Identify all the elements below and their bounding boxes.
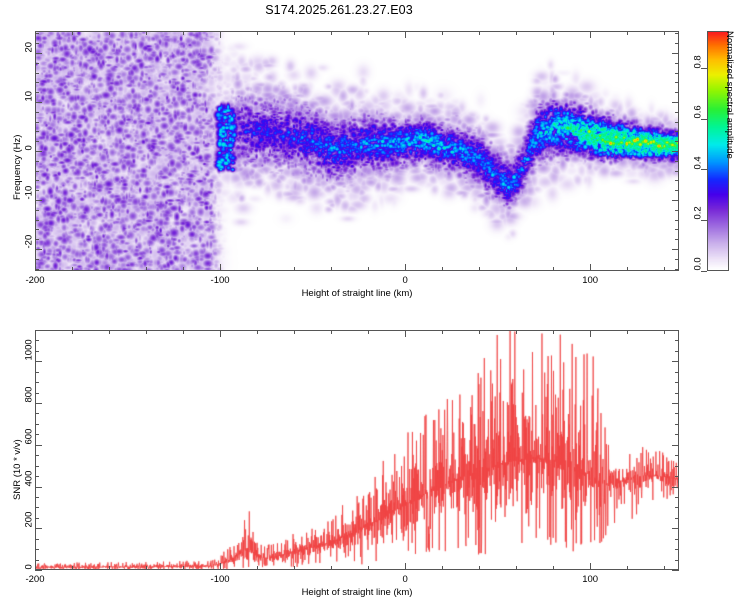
snr-panel [35, 330, 679, 570]
y-minor-tick-right [675, 259, 679, 260]
snr-x-axis-label: Height of straight line (km) [35, 587, 679, 598]
y-major-tick [35, 445, 42, 446]
y-minor-tick [35, 372, 39, 373]
y-major-tick-right [672, 403, 679, 404]
y-minor-tick [35, 33, 39, 34]
snr-line-plot [36, 331, 679, 570]
y-minor-tick-right [675, 340, 679, 341]
y-minor-tick-right [675, 73, 679, 74]
y-minor-tick-right [675, 372, 679, 373]
x-minor-tick [553, 566, 554, 570]
y-minor-tick [35, 131, 39, 132]
x-tick-label: 0 [380, 574, 430, 585]
x-minor-tick [331, 267, 332, 271]
y-minor-tick [35, 269, 39, 270]
y-major-tick [35, 570, 42, 571]
y-minor-tick-right [675, 507, 679, 508]
x-minor-tick-top [109, 330, 110, 334]
x-major-tick-top [590, 31, 591, 38]
y-minor-tick [35, 549, 39, 550]
x-minor-tick [479, 566, 480, 570]
y-minor-tick [35, 190, 39, 191]
y-minor-tick [35, 340, 39, 341]
y-minor-tick [35, 382, 39, 383]
y-minor-tick [35, 239, 39, 240]
snr-y-axis-label: SNR (10 * v/v) [12, 439, 23, 500]
x-minor-tick [627, 566, 628, 570]
x-tick-label: -100 [195, 275, 245, 286]
x-major-tick-top [220, 330, 221, 337]
y-minor-tick-right [675, 497, 679, 498]
x-major-tick-top [220, 31, 221, 38]
x-minor-tick [294, 566, 295, 570]
x-minor-tick [183, 267, 184, 271]
y-minor-tick [35, 413, 39, 414]
x-tick-label: -100 [195, 574, 245, 585]
x-minor-tick [109, 566, 110, 570]
y-minor-tick [35, 92, 39, 93]
y-major-tick-right [672, 528, 679, 529]
x-tick-label: -200 [10, 574, 60, 585]
y-minor-tick [35, 259, 39, 260]
x-minor-tick-top [257, 31, 258, 35]
y-major-tick-right [672, 102, 679, 103]
x-minor-tick-top [72, 330, 73, 334]
y-minor-tick [35, 43, 39, 44]
y-minor-tick-right [675, 382, 679, 383]
y-minor-tick [35, 455, 39, 456]
x-minor-tick-top [368, 330, 369, 334]
y-minor-tick-right [675, 180, 679, 181]
x-minor-tick [516, 566, 517, 570]
x-minor-tick-top [516, 31, 517, 35]
x-minor-tick [331, 566, 332, 570]
y-major-tick [35, 249, 42, 250]
y-major-tick [35, 403, 42, 404]
y-minor-tick [35, 82, 39, 83]
x-major-tick [35, 563, 36, 570]
x-minor-tick [146, 267, 147, 271]
y-minor-tick [35, 220, 39, 221]
y-minor-tick [35, 171, 39, 172]
y-minor-tick-right [675, 239, 679, 240]
y-minor-tick [35, 141, 39, 142]
x-major-tick-top [35, 330, 36, 337]
y-minor-tick [35, 330, 39, 331]
y-minor-tick-right [675, 269, 679, 270]
x-minor-tick-top [627, 31, 628, 35]
y-minor-tick [35, 393, 39, 394]
y-minor-tick [35, 424, 39, 425]
x-major-tick [220, 563, 221, 570]
y-minor-tick-right [675, 63, 679, 64]
x-minor-tick-top [368, 31, 369, 35]
y-minor-tick [35, 539, 39, 540]
x-minor-tick-top [664, 330, 665, 334]
y-minor-tick-right [675, 141, 679, 142]
y-major-tick [35, 200, 42, 201]
x-minor-tick [368, 566, 369, 570]
y-minor-tick-right [675, 161, 679, 162]
y-major-tick-right [672, 445, 679, 446]
figure-root: S174.2025.261.23.27.E03 -200-1000100 -20… [0, 0, 750, 600]
y-minor-tick [35, 351, 39, 352]
y-minor-tick-right [675, 210, 679, 211]
y-minor-tick [35, 497, 39, 498]
x-minor-tick-top [553, 31, 554, 35]
y-minor-tick-right [675, 43, 679, 44]
x-major-tick [405, 264, 406, 271]
y-minor-tick-right [675, 33, 679, 34]
y-minor-tick [35, 560, 39, 561]
y-minor-tick-right [675, 190, 679, 191]
x-minor-tick [479, 267, 480, 271]
colorbar-title: Normalized spectral amplitude [724, 31, 735, 159]
y-minor-tick [35, 210, 39, 211]
y-minor-tick [35, 507, 39, 508]
x-major-tick-top [590, 330, 591, 337]
x-minor-tick-top [183, 31, 184, 35]
y-minor-tick [35, 63, 39, 64]
x-minor-tick-top [146, 330, 147, 334]
colorbar-tick [701, 119, 707, 120]
y-major-tick [35, 102, 42, 103]
y-minor-tick-right [675, 466, 679, 467]
y-major-tick [35, 53, 42, 54]
x-tick-label: 100 [565, 275, 615, 286]
x-major-tick-top [405, 330, 406, 337]
x-minor-tick [627, 267, 628, 271]
x-minor-tick-top [109, 31, 110, 35]
y-minor-tick-right [675, 131, 679, 132]
y-minor-tick-right [675, 220, 679, 221]
x-minor-tick-top [479, 330, 480, 334]
x-minor-tick [442, 566, 443, 570]
x-minor-tick-top [479, 31, 480, 35]
x-minor-tick-top [516, 330, 517, 334]
x-minor-tick-top [146, 31, 147, 35]
x-minor-tick [72, 267, 73, 271]
y-minor-tick-right [675, 476, 679, 477]
y-minor-tick [35, 476, 39, 477]
y-major-tick-right [672, 151, 679, 152]
y-minor-tick-right [675, 549, 679, 550]
x-tick-label: 100 [565, 574, 615, 585]
x-minor-tick [516, 267, 517, 271]
x-minor-tick [109, 267, 110, 271]
y-minor-tick-right [675, 330, 679, 331]
y-minor-tick [35, 466, 39, 467]
y-major-tick [35, 361, 42, 362]
x-minor-tick-top [294, 330, 295, 334]
page-title: S174.2025.261.23.27.E03 [0, 3, 678, 17]
y-minor-tick-right [675, 92, 679, 93]
y-minor-tick-right [675, 171, 679, 172]
x-minor-tick-top [183, 330, 184, 334]
x-minor-tick [442, 267, 443, 271]
colorbar-tick [701, 220, 707, 221]
x-minor-tick-top [664, 31, 665, 35]
x-tick-label: -200 [10, 275, 60, 286]
y-minor-tick-right [675, 229, 679, 230]
y-major-tick-right [672, 487, 679, 488]
y-minor-tick-right [675, 424, 679, 425]
y-minor-tick [35, 229, 39, 230]
y-minor-tick-right [675, 413, 679, 414]
x-major-tick [590, 264, 591, 271]
y-major-tick [35, 528, 42, 529]
x-minor-tick-top [331, 31, 332, 35]
x-tick-label: 0 [380, 275, 430, 286]
colorbar-tick [701, 68, 707, 69]
x-minor-tick-top [442, 31, 443, 35]
y-minor-tick-right [675, 351, 679, 352]
y-minor-tick [35, 518, 39, 519]
y-major-tick-right [672, 570, 679, 571]
spectrogram-panel [35, 31, 679, 271]
y-minor-tick-right [675, 112, 679, 113]
y-minor-tick [35, 73, 39, 74]
y-minor-tick [35, 112, 39, 113]
y-minor-tick-right [675, 82, 679, 83]
y-minor-tick-right [675, 518, 679, 519]
x-minor-tick [553, 267, 554, 271]
x-minor-tick-top [442, 330, 443, 334]
x-major-tick [590, 563, 591, 570]
x-minor-tick [72, 566, 73, 570]
colorbar-tick [701, 169, 707, 170]
y-major-tick [35, 487, 42, 488]
y-minor-tick-right [675, 560, 679, 561]
x-minor-tick-top [294, 31, 295, 35]
y-minor-tick-right [675, 122, 679, 123]
x-minor-tick [294, 267, 295, 271]
y-minor-tick [35, 122, 39, 123]
x-minor-tick-top [553, 330, 554, 334]
y-minor-tick-right [675, 455, 679, 456]
x-minor-tick-top [627, 330, 628, 334]
colorbar-tick [701, 271, 707, 272]
y-minor-tick-right [675, 434, 679, 435]
x-minor-tick [257, 566, 258, 570]
x-minor-tick [664, 267, 665, 271]
y-minor-tick-right [675, 539, 679, 540]
x-minor-tick-top [72, 31, 73, 35]
y-minor-tick [35, 180, 39, 181]
y-minor-tick-right [675, 393, 679, 394]
spectrogram-y-axis-label: Frequency (Hz) [12, 135, 23, 200]
y-minor-tick [35, 161, 39, 162]
x-minor-tick-top [257, 330, 258, 334]
y-minor-tick [35, 434, 39, 435]
x-minor-tick [664, 566, 665, 570]
x-major-tick [220, 264, 221, 271]
spectrogram-image [36, 32, 679, 271]
x-minor-tick [183, 566, 184, 570]
y-major-tick-right [672, 361, 679, 362]
y-major-tick-right [672, 249, 679, 250]
x-minor-tick-top [331, 330, 332, 334]
y-major-tick-right [672, 53, 679, 54]
x-major-tick [405, 563, 406, 570]
y-major-tick [35, 151, 42, 152]
x-minor-tick [146, 566, 147, 570]
y-major-tick-right [672, 200, 679, 201]
spectrogram-x-axis-label: Height of straight line (km) [35, 288, 679, 299]
x-major-tick-top [405, 31, 406, 38]
x-minor-tick [257, 267, 258, 271]
x-minor-tick [368, 267, 369, 271]
